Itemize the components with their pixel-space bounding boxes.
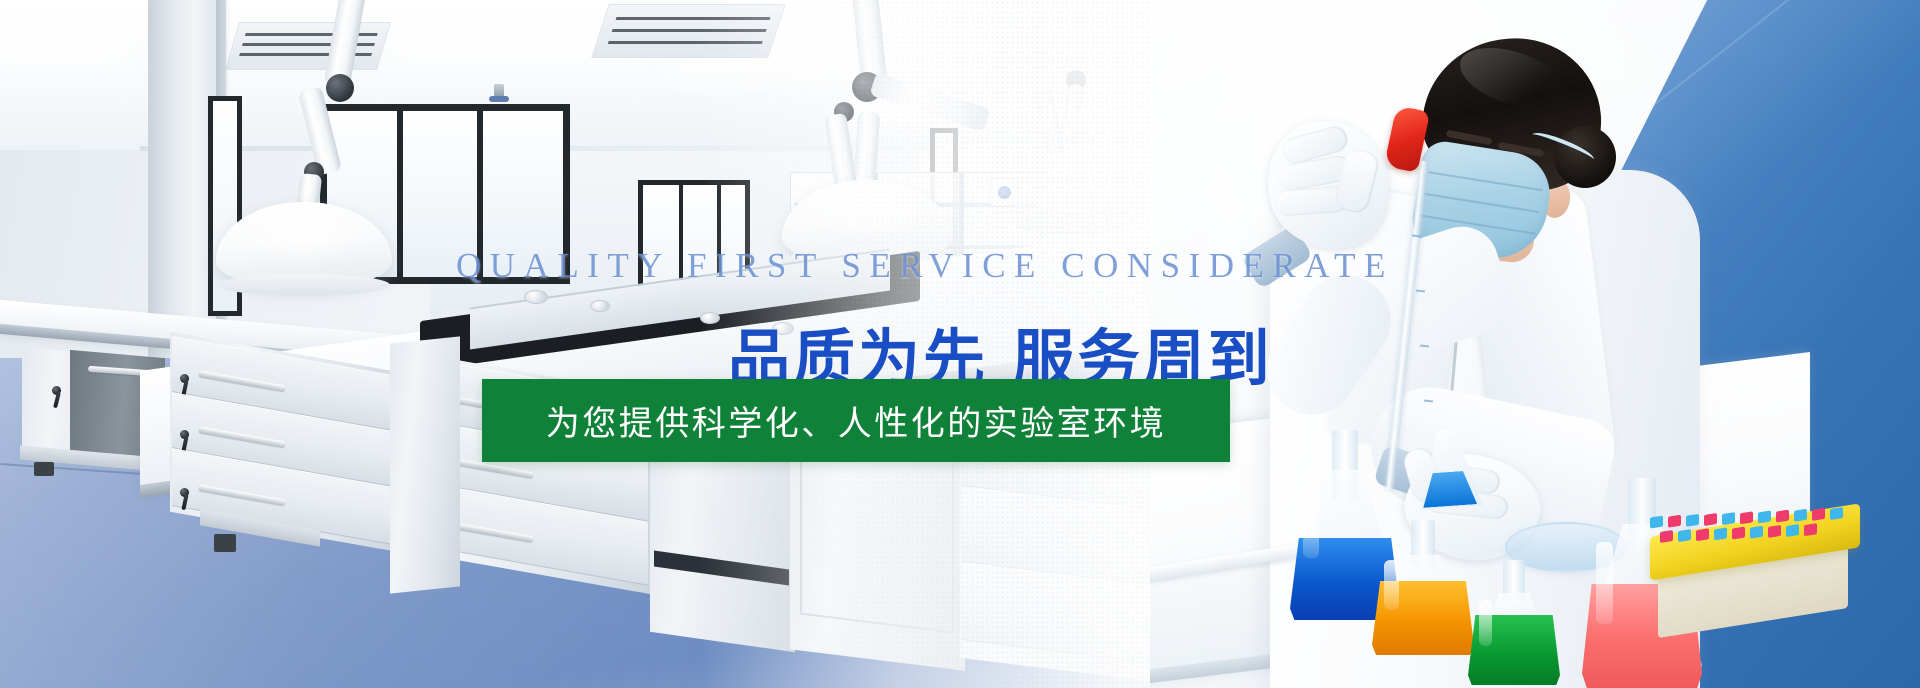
pipette-tip	[1750, 526, 1763, 539]
pipette-tip	[1686, 514, 1699, 527]
pipette-tip	[1794, 509, 1807, 522]
pipette-tip	[1678, 529, 1691, 542]
bench-service-knob	[524, 290, 548, 304]
fume-extraction-arm	[262, 0, 482, 220]
pipette-tip	[1740, 511, 1753, 524]
subtitle-green-bar: 为您提供科学化、人性化的实验室环境	[482, 379, 1230, 462]
island-end-panel	[390, 336, 460, 593]
pipette-tip	[1650, 516, 1663, 529]
pipette-tip	[1768, 525, 1781, 538]
flask-orange	[1372, 520, 1474, 655]
pipette-tip	[1714, 527, 1727, 540]
pipette-tip	[1696, 528, 1709, 541]
pipette-tip	[1722, 512, 1735, 525]
pipette-tip	[1804, 523, 1817, 536]
hero-banner[interactable]: QUALITY FIRST SERVICE CONSIDERATE 品质为先 服…	[0, 0, 1920, 688]
pipette-tip	[1776, 510, 1789, 523]
bench-service-knob	[590, 300, 610, 312]
pipette-tip	[1812, 508, 1825, 521]
ceiling-sprinkler-head	[489, 96, 509, 102]
pipette-tip	[1668, 515, 1681, 528]
subtitle-text: 为您提供科学化、人性化的实验室环境	[546, 396, 1167, 445]
pipette-tip	[1758, 510, 1771, 523]
pipette-tip	[1786, 524, 1799, 537]
cabinet-foot	[214, 534, 236, 552]
pipette-tip	[1732, 527, 1745, 540]
technician-head	[1418, 30, 1618, 260]
pipette-tip	[1660, 530, 1673, 543]
pipette-tip	[1830, 507, 1843, 520]
headline-english: QUALITY FIRST SERVICE CONSIDERATE	[456, 246, 1394, 286]
ceiling-light-panel	[0, 20, 120, 54]
pipette-tip	[1704, 513, 1717, 526]
flask-green	[1468, 560, 1560, 685]
cabinet-foot	[34, 462, 54, 476]
